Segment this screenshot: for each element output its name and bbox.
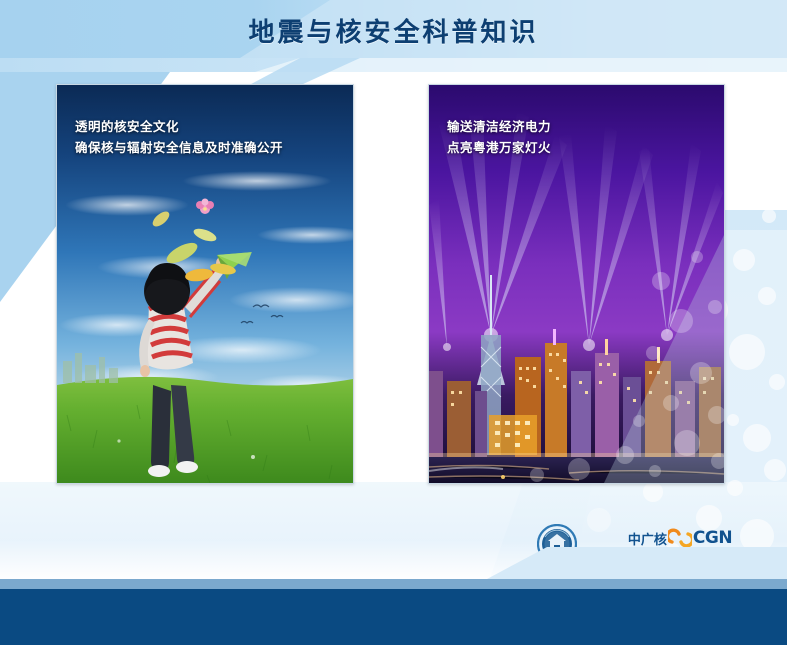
poster-right-caption: 输送清洁经济电力 点亮粤港万家灯火 [447,117,551,158]
poster-left-caption: 透明的核安全文化 确保核与辐射安全信息及时准确公开 [75,117,283,158]
orange-swirl-mark-icon [668,528,692,548]
footer-bar [0,589,787,645]
slide-canvas: 地震与核安全科普知识 [0,0,787,645]
poster-image-right[interactable]: 输送清洁经济电力 点亮粤港万家灯火 [428,84,725,484]
poster-image-left[interactable]: 透明的核安全文化 确保核与辐射安全信息及时准确公开 [56,84,354,484]
cgn-english-name: CGN [693,528,732,548]
header-underline [0,58,787,72]
cgn-chinese-name: 中广核 [628,529,667,548]
cgn-wordmark: 中广核 CGN [620,528,740,548]
page-title: 地震与核安全科普知识 [0,12,787,49]
footer-accent-strip [0,579,787,589]
